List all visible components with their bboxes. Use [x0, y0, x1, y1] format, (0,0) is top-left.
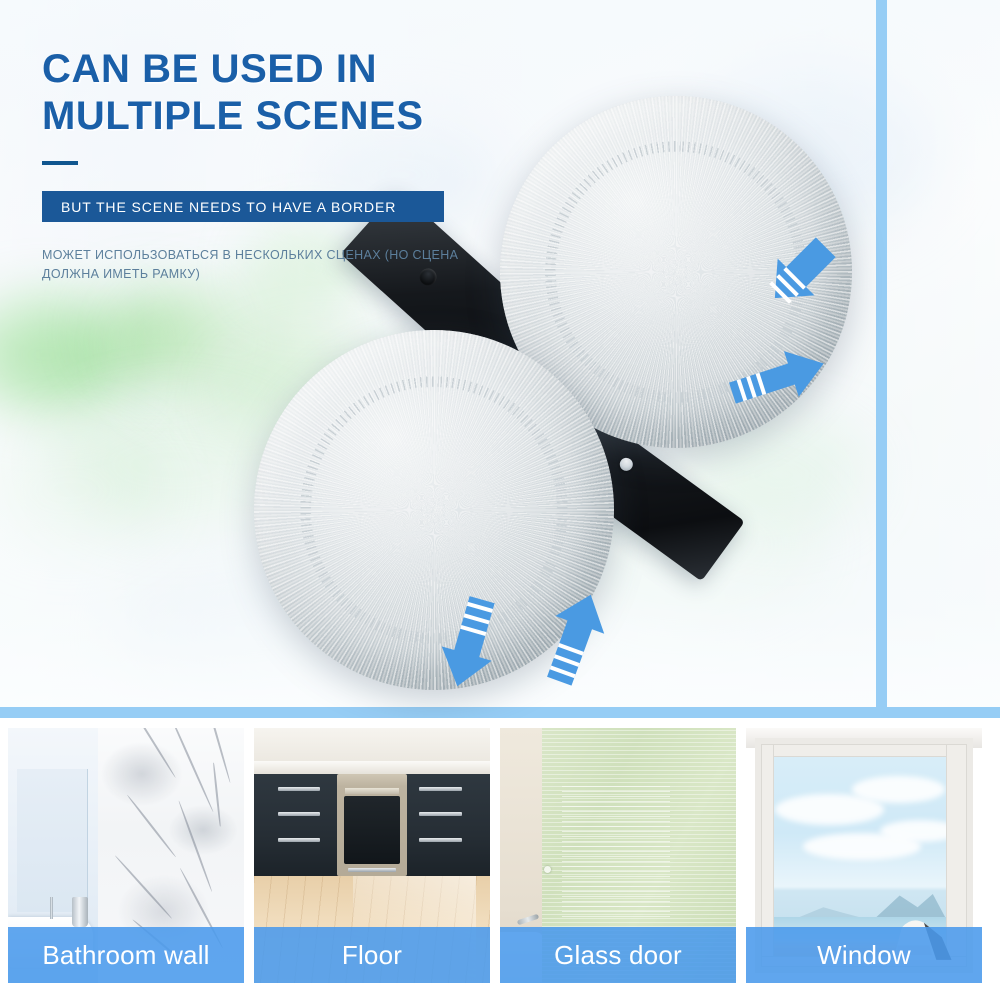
- subtitle-russian: МОЖЕТ ИСПОЛЬЗОВАТЬСЯ В НЕСКОЛЬКИХ СЦЕНАХ…: [42, 246, 472, 284]
- product-feature-page: CAN BE USED IN MULTIPLE SCENES BUT THE S…: [0, 0, 1000, 1000]
- countertop: [254, 761, 490, 774]
- page-title: CAN BE USED IN MULTIPLE SCENES: [42, 46, 562, 140]
- scene-label-text: Bathroom wall: [42, 940, 209, 971]
- scene-label: Floor: [254, 927, 490, 983]
- tumbler: [72, 897, 88, 927]
- cabinet-handle: [419, 838, 461, 842]
- door-knob: [544, 866, 551, 873]
- headline-line-1: CAN BE USED IN: [42, 46, 562, 93]
- window-mullion: [762, 745, 965, 756]
- scene-floor[interactable]: Floor: [254, 728, 490, 983]
- arrow-right-icon: [724, 348, 834, 408]
- cabinet-handle: [278, 812, 320, 816]
- mountain-range: [799, 904, 860, 917]
- hero-section: CAN BE USED IN MULTIPLE SCENES BUT THE S…: [0, 0, 1000, 718]
- built-in-oven: [337, 774, 408, 876]
- cabinet-handle: [278, 838, 320, 842]
- scene-label-text: Window: [817, 940, 911, 971]
- arrow-up-right-icon: [530, 588, 620, 688]
- oven-control-panel: [345, 788, 399, 794]
- cabinet-handle: [419, 812, 461, 816]
- title-divider: [42, 161, 78, 165]
- scene-thumbnail-row: Bathroom wall: [0, 728, 1000, 990]
- scene-glass-door[interactable]: Glass door: [500, 728, 736, 983]
- scene-label-text: Floor: [342, 940, 402, 971]
- oven-door-glass: [344, 796, 401, 863]
- glass-pane-highlight: [562, 784, 670, 917]
- scene-label-text: Glass door: [554, 940, 682, 971]
- cabinet-handle: [419, 787, 461, 791]
- faucet: [50, 897, 53, 919]
- scene-window[interactable]: Window: [746, 728, 982, 983]
- headline-line-2: MULTIPLE SCENES: [42, 93, 562, 140]
- status-badge: BUT THE SCENE NEEDS TO HAVE A BORDER: [42, 191, 444, 222]
- scene-label: Glass door: [500, 927, 736, 983]
- scene-bathroom-wall[interactable]: Bathroom wall: [8, 728, 244, 983]
- cabinet-handle: [348, 868, 395, 872]
- badge-label: BUT THE SCENE NEEDS TO HAVE A BORDER: [42, 199, 396, 215]
- bathroom-panel: [17, 769, 88, 912]
- arrow-up-left-icon: [756, 232, 846, 312]
- scene-label: Bathroom wall: [8, 927, 244, 983]
- mount-rivet: [617, 455, 635, 473]
- arrow-down-icon: [430, 592, 510, 692]
- cabinet-handle: [278, 787, 320, 791]
- scene-label: Window: [746, 927, 982, 983]
